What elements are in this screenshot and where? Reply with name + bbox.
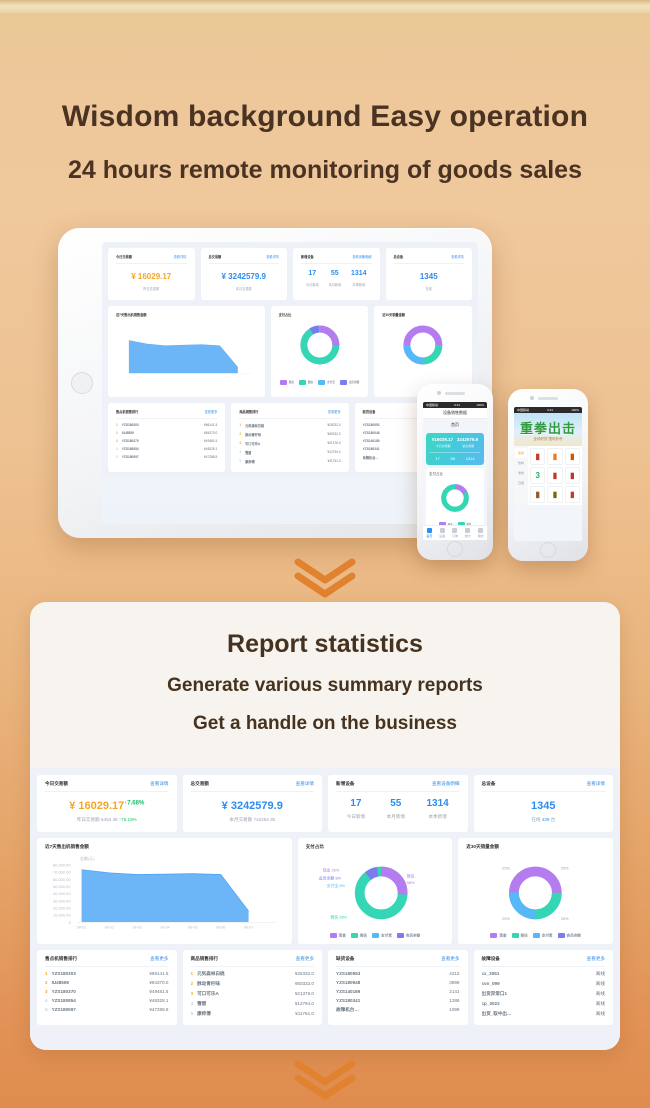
speaker-icon: [538, 397, 558, 400]
card-stat: 17: [435, 456, 439, 461]
table-row: 出货_取中出…离线: [482, 1007, 606, 1017]
kpi-value: 1314: [351, 270, 367, 277]
svg-text:0: 0: [69, 920, 72, 925]
product-tile[interactable]: ▮: [547, 467, 562, 484]
table-row: 1YZS180303¥86141.5: [45, 967, 169, 976]
category-item[interactable]: 日用: [515, 478, 527, 488]
svg-text:30,000.00: 30,000.00: [53, 898, 71, 903]
phone1-summary-card: ¥16029.173242579.9 今日交易额总交易额 17551314: [426, 433, 484, 465]
svg-text:50,000.00: 50,000.00: [53, 884, 71, 889]
camera-icon: [437, 391, 441, 395]
page-title: Wisdom background Easy operation: [0, 100, 650, 134]
table-action-link[interactable]: 查看更多: [150, 956, 168, 962]
tab-profile[interactable]: 我的: [478, 528, 484, 538]
kpi-trio-item: 17今日新增: [306, 270, 319, 287]
table-row: 2IU48559¥84370.0: [116, 427, 217, 435]
category-item[interactable]: 热销: [515, 448, 527, 458]
kpi-value: ¥ 16029.17↑7.68%: [45, 800, 169, 812]
product-tile[interactable]: ▮: [547, 448, 562, 465]
table-row: 5YZS180597¥47288.5: [116, 451, 217, 459]
table-title: 商品销售排行: [239, 409, 258, 414]
phone1-tabbar[interactable]: 首页 设备 订单 统计 我的: [423, 525, 487, 540]
table-title: 售点机销售排行: [116, 409, 138, 414]
card-line-1: Generate various summary reports: [30, 675, 620, 697]
kpi-value: ¥ 3242579.9: [209, 272, 280, 281]
kpi-subtext: 昨日交易额 5453.38 ↑75.19%: [45, 817, 169, 823]
table-action-link[interactable]: 查看更多: [296, 956, 314, 962]
card-stat: 1314: [466, 456, 475, 461]
area-chart-wrapper: 金额(元) 80,000.00 70,000.00 60,000.00 50,0…: [45, 850, 284, 934]
legend-item: 现金: [280, 380, 294, 385]
svg-text:现金 26%: 现金 26%: [322, 867, 339, 872]
legend-item: 微信: [299, 380, 313, 385]
legend-item: 支付宝: [533, 933, 553, 938]
svg-text:08-02: 08-02: [105, 926, 114, 930]
sales-area-chart-panel: 近7天售出机销售金额 金额(元) 80,000.00 70,000.00 60,…: [37, 838, 292, 944]
kpi-trio-item: 55本月新增: [328, 270, 341, 287]
kpi-card-today-sales[interactable]: 今日交易额查看详情 ¥ 16029.17 昨日交易额: [108, 248, 195, 300]
table-row: 1元気森林白桃¥25332.0: [191, 967, 315, 977]
legend-item: 会员余额: [558, 933, 581, 938]
tables-row: 售点机销售排行查看更多 1YZS180303¥86141.5 2IU48559¥…: [37, 950, 613, 1025]
big-dashboard: 今日交易额查看详情 ¥ 16029.17↑7.68% 昨日交易额 5453.38…: [30, 768, 620, 1050]
card-value: ¥16029.17: [432, 437, 453, 442]
table-machine-ranking: 售点机销售排行查看更多 1YZS180303¥86141.5 2IU48559¥…: [37, 950, 177, 1025]
svg-text:08-03: 08-03: [132, 926, 141, 930]
card-label: 总交易额: [462, 444, 474, 448]
phone1-screen: 中国移动 9:41 100% 设备销售数据 首页 ¥16029.17324257…: [423, 402, 487, 540]
legend-item: 会员余额: [340, 380, 359, 385]
svg-text:支付宝 8%: 支付宝 8%: [326, 883, 345, 888]
table-machine-ranking: 售点机销售排行查看更多 1YZS180303¥86141.5 2IU48559¥…: [108, 403, 225, 472]
table-title: 商品销售排行: [191, 956, 219, 962]
donut-chart: 现金 26% 会员余额 8% 支付宝 8% 微信 58% 微信 58%: [306, 850, 445, 930]
battery-label: 100%: [476, 403, 484, 407]
table-title: 缺货设备: [336, 956, 354, 962]
tab-home[interactable]: 首页: [426, 528, 432, 538]
donut-legend: 现金 微信 支付宝 会员余额: [306, 933, 445, 938]
donut-chart: 25% 25% 25% 25%: [466, 850, 605, 930]
svg-text:微信 58%: 微信 58%: [330, 914, 347, 919]
product-tile[interactable]: ▮: [530, 448, 545, 465]
legend-item: 微信: [351, 933, 367, 938]
table-row: cvn_099离线: [482, 977, 606, 987]
banner-subtitle: 全场好货 限时秒杀: [514, 437, 582, 442]
table-row: 3YZS180370¥49481.5: [45, 985, 169, 994]
kpi-card-total-sales[interactable]: 总交易额查看详情 ¥ 3242579.9 本月交易额: [201, 248, 288, 300]
svg-text:58%: 58%: [406, 880, 414, 885]
svg-text:微信: 微信: [406, 873, 414, 878]
kpi-value: ¥ 3242579.9: [191, 800, 315, 812]
product-tile[interactable]: ▮: [565, 448, 580, 465]
card-value: 3242579.9: [457, 437, 478, 442]
kpi-trio-item: 1314本季新增: [426, 798, 448, 820]
table-row: 1YZS180303¥86141.5: [116, 419, 217, 427]
kpi-label: 本季新增: [426, 814, 448, 820]
table-row: 5康师傅¥11761.0: [191, 1007, 315, 1017]
card-line-2: Get a handle on the business: [30, 713, 620, 735]
table-row: 3YZS180370¥49481.5: [116, 435, 217, 443]
kpi-title: 总交易额: [209, 254, 222, 259]
table-row: YZS1401892141: [336, 985, 460, 994]
tablet-home-button[interactable]: [71, 372, 93, 394]
donut-legend: 现金 微信 支付宝 会员余额: [279, 380, 361, 385]
product-tile[interactable]: 3: [530, 467, 545, 484]
svg-text:会员余额 8%: 会员余额 8%: [318, 875, 341, 880]
table-row: YZS1809483899: [336, 976, 460, 985]
kpi-trio-item: 17今日新增: [347, 798, 365, 820]
phone-mockup-dashboard: 中国移动 9:41 100% 设备销售数据 首页 ¥16029.17324257…: [417, 384, 493, 560]
table-row: 2脉动青柠味¥50332.0: [191, 977, 315, 987]
kpi-action-link[interactable]: 查看详情: [266, 254, 279, 259]
legend-item: 现金: [330, 933, 346, 938]
category-item[interactable]: 零食: [515, 468, 527, 478]
kpi-value: 55: [387, 798, 405, 809]
svg-text:08-06: 08-06: [216, 926, 225, 930]
kpi-label: 今日新增: [306, 282, 319, 287]
report-statistics-card: Report statistics Generate various summa…: [30, 602, 620, 1050]
carrier-label: 中国移动: [517, 408, 529, 412]
table-row: YZS1803411286: [336, 994, 460, 1003]
kpi-value: ¥ 16029.17: [116, 272, 187, 281]
card-title: Report statistics: [30, 630, 620, 659]
table-row: 4YZS180854¥48328.1: [45, 994, 169, 1003]
promo-banner[interactable]: 重拳出击 全场好货 限时秒杀: [514, 413, 582, 446]
kpi-trio-item: 1314本季新增: [351, 270, 367, 287]
phone-mockup-shop: 中国移动 9:41 100% 重拳出击 全场好货 限时秒杀 热销 饮料 零食 日…: [508, 389, 588, 561]
table-action-link[interactable]: 查看更多: [441, 956, 459, 962]
page-subtitle: 24 hours remote monitoring of goods sale…: [0, 156, 650, 185]
kpi-trio-item: 55本月新增: [387, 798, 405, 820]
kpi-label: 本季新增: [351, 282, 367, 287]
tab-orders[interactable]: 订单: [452, 528, 458, 538]
table-row: 3可口可乐A¥21376.0: [239, 437, 340, 446]
kpi-subtext: 在线 439 台: [482, 817, 606, 823]
phone2-screen: 中国移动 9:41 100% 重拳出击 全场好货 限时秒杀 热销 饮料 零食 日…: [514, 407, 582, 541]
kpi-title: 总设备: [394, 254, 404, 259]
svg-text:80,000.00: 80,000.00: [53, 863, 71, 868]
legend-item: 微信: [512, 933, 528, 938]
product-tile[interactable]: ▮: [565, 467, 580, 484]
svg-text:08-01: 08-01: [77, 926, 86, 930]
table-action-link[interactable]: 查看更多: [328, 409, 341, 414]
donut-legend: 现金 微信 支付宝 会员余额: [466, 933, 605, 938]
table-row: 2脉动青柠味¥50332.0: [239, 428, 340, 437]
kpi-action-link[interactable]: 查看详情: [451, 254, 464, 259]
table-row: 5康师傅¥11761.0: [239, 455, 340, 464]
table-row: 1元気森林白桃¥25332.0: [239, 419, 340, 428]
kpi-title: 总交易额: [191, 781, 209, 787]
payment-donut-panel: 支付占比 现金 26% 会员余额 8% 支付宝 8% 微信 58% 微信 58%…: [298, 838, 453, 944]
panel-row: 近7天售出机销售金额 金额(元) 80,000.00 70,000.00 60,…: [37, 838, 613, 944]
donut-chart: [279, 317, 361, 377]
table-row: 4YZS180854¥48328.1: [116, 443, 217, 451]
double-chevron-down-icon: [292, 1058, 358, 1100]
carrier-label: 中国移动: [426, 403, 438, 407]
kpi-action-link[interactable]: 查看详情: [150, 781, 168, 787]
svg-text:70,000.00: 70,000.00: [53, 870, 71, 875]
table-product-ranking: 商品销售排行查看更多 1元気森林白桃¥25332.0 2脉动青柠味¥50332.…: [231, 403, 348, 472]
y-axis-label: 金额(元): [80, 856, 95, 861]
kpi-title: 新增设备: [336, 781, 354, 787]
kpi-subtext: 在线: [394, 286, 465, 291]
tab-stats[interactable]: 统计: [465, 528, 471, 538]
monthly-donut-panel: 近30天销量金额 25% 25% 25% 25% 现金 微信 支付宝 会员余额: [458, 838, 613, 944]
kpi-value: 1345: [482, 800, 606, 812]
legend-item: 支付宝: [318, 380, 335, 385]
table-title: 缺货设备: [363, 409, 376, 414]
table-row: YZS1805534212: [336, 967, 460, 976]
speaker-icon: [445, 392, 465, 395]
product-tile[interactable]: ▮: [565, 486, 580, 503]
nav-title: 设备销售数据: [443, 410, 467, 415]
top-gold-band: [0, 0, 650, 13]
table-action-link[interactable]: 查看更多: [587, 956, 605, 962]
kpi-card-total-devices[interactable]: 总设备查看详情 1345 在线 439 台: [474, 775, 614, 832]
legend-item: 现金: [490, 933, 506, 938]
table-faulty-devices: 故障设备查看更多 cx_3051离线 cvn_099离线 出货异常口1离线 cp…: [474, 950, 614, 1025]
table-row: 出货异常口1离线: [482, 987, 606, 997]
svg-text:08-05: 08-05: [188, 926, 197, 930]
kpi-card-new-devices[interactable]: 新增设备查看设备明细 17今日新增 55本月新增 1314本季新增: [328, 775, 468, 832]
kpi-value: 55: [328, 270, 341, 277]
svg-text:10,000.00: 10,000.00: [53, 913, 71, 918]
kpi-card-total-sales[interactable]: 总交易额查看详情 ¥ 3242579.9 本月交易额 742254.30: [183, 775, 323, 832]
table-title: 故障设备: [482, 956, 500, 962]
kpi-label: 本月新增: [387, 814, 405, 820]
scroll-indicator-top: [0, 556, 650, 603]
svg-text:60,000.00: 60,000.00: [53, 877, 71, 882]
table-row: 4雪碧¥12794.0: [239, 446, 340, 455]
table-row: cx_3051离线: [482, 967, 606, 977]
banner-title: 重拳出击: [514, 418, 582, 437]
svg-text:25%: 25%: [502, 916, 510, 921]
kpi-subtext: 本月交易额 742254.30: [191, 817, 315, 823]
table-row: 4雪碧¥12794.0: [191, 997, 315, 1007]
kpi-label: 今日新增: [347, 814, 365, 820]
shop-body: 热销 饮料 零食 日用 ▮ ▮ ▮ 3 ▮ ▮ ▮ ▮ ▮: [514, 446, 582, 505]
kpi-value: 1345: [394, 272, 465, 281]
table-row: 3可口可乐A¥21376.0: [191, 987, 315, 997]
payment-donut-panel: 支付占比 现金 微信 支付宝 会员余额: [271, 306, 369, 397]
kpi-row: 今日交易额查看详情 ¥ 16029.17↑7.68% 昨日交易额 5453.38…: [37, 775, 613, 832]
card-label: 今日交易额: [436, 444, 451, 448]
donut-chart: [429, 477, 481, 519]
scroll-indicator-bottom: [0, 1058, 650, 1105]
product-grid: ▮ ▮ ▮ 3 ▮ ▮ ▮ ▮ ▮: [528, 446, 582, 505]
svg-text:08-07: 08-07: [244, 926, 253, 930]
kpi-card-total-devices[interactable]: 总设备查看详情 1345 在线: [386, 248, 473, 300]
kpi-title: 总设备: [482, 781, 496, 787]
product-tile[interactable]: ▮: [547, 486, 562, 503]
double-chevron-down-icon: [292, 556, 358, 598]
svg-text:20,000.00: 20,000.00: [53, 905, 71, 910]
clock-label: 9:41: [547, 408, 553, 412]
table-row: 2IU48559¥84370.0: [45, 976, 169, 985]
phone1-page-title: 首页: [423, 419, 487, 430]
kpi-subtext: 昨日交易额: [116, 286, 187, 291]
camera-icon: [530, 396, 534, 400]
kpi-row: 今日交易额查看详情 ¥ 16029.17 昨日交易额 总交易额查看详情 ¥ 32…: [108, 248, 472, 300]
tab-devices[interactable]: 设备: [439, 528, 445, 538]
area-chart: 金额(元) 80,000.00 70,000.00 60,000.00 50,0…: [45, 850, 284, 934]
kpi-value: 17: [347, 798, 365, 809]
kpi-action-link[interactable]: 查看设备明细: [432, 781, 460, 787]
category-sidebar[interactable]: 热销 饮料 零食 日用: [514, 446, 528, 505]
kpi-title: 今日交易额: [116, 254, 132, 259]
table-title: 售点机销售排行: [45, 956, 77, 962]
product-tile[interactable]: ▮: [530, 486, 545, 503]
sales-area-chart-panel: 近7天售出机销售金额: [108, 306, 265, 397]
battery-label: 100%: [571, 408, 579, 412]
kpi-subtext: 本月交易额: [209, 286, 280, 291]
legend-item: 支付宝: [372, 933, 392, 938]
kpi-card-new-devices[interactable]: 新增设备查看设备明细 17今日新增 55本月新增 1314本季新增: [293, 248, 380, 300]
kpi-action-link[interactable]: 查看详情: [587, 781, 605, 787]
table-row: 故障机台…1099: [336, 1003, 460, 1013]
svg-text:40,000.00: 40,000.00: [53, 891, 71, 896]
kpi-title: 新增设备: [301, 254, 314, 259]
kpi-card-today-sales[interactable]: 今日交易额查看详情 ¥ 16029.17↑7.68% 昨日交易额 5453.38…: [37, 775, 177, 832]
clock-label: 9:41: [454, 403, 460, 407]
table-out-of-stock: 缺货设备查看更多 YZS1805534212 YZS1809483899 YZS…: [328, 950, 468, 1025]
svg-text:25%: 25%: [561, 916, 569, 921]
kpi-value: 1314: [426, 798, 448, 809]
hero-section: Wisdom background Easy operation 24 hour…: [0, 100, 650, 185]
kpi-label: 本月新增: [328, 282, 341, 287]
table-row: 5YZS180597¥47288.5: [45, 1003, 169, 1012]
svg-text:25%: 25%: [502, 866, 510, 871]
table-row: cp_3022离线: [482, 997, 606, 1007]
kpi-action-link[interactable]: 查看详情: [296, 781, 314, 787]
phone1-navbar: 设备销售数据: [423, 408, 487, 419]
kpi-action-link[interactable]: 查看详情: [174, 254, 187, 259]
table-product-ranking: 商品销售排行查看更多 1元気森林白桃¥25332.0 2脉动青柠味¥50332.…: [183, 950, 323, 1025]
table-action-link[interactable]: 查看更多: [205, 409, 218, 414]
phone-home-button[interactable]: [447, 541, 463, 557]
category-item[interactable]: 饮料: [515, 458, 527, 468]
kpi-value: 17: [306, 270, 319, 277]
donut-chart: [382, 317, 464, 377]
svg-text:08-04: 08-04: [160, 926, 169, 930]
panel-row: 近7天售出机销售金额 支付占比 现金: [108, 306, 472, 397]
kpi-title: 今日交易额: [45, 781, 68, 787]
legend-item: 会员余额: [397, 933, 420, 938]
kpi-action-link[interactable]: 查看设备明细: [352, 254, 371, 259]
card-stat: 55: [451, 456, 455, 461]
area-chart: [116, 317, 257, 391]
svg-text:25%: 25%: [561, 866, 569, 871]
